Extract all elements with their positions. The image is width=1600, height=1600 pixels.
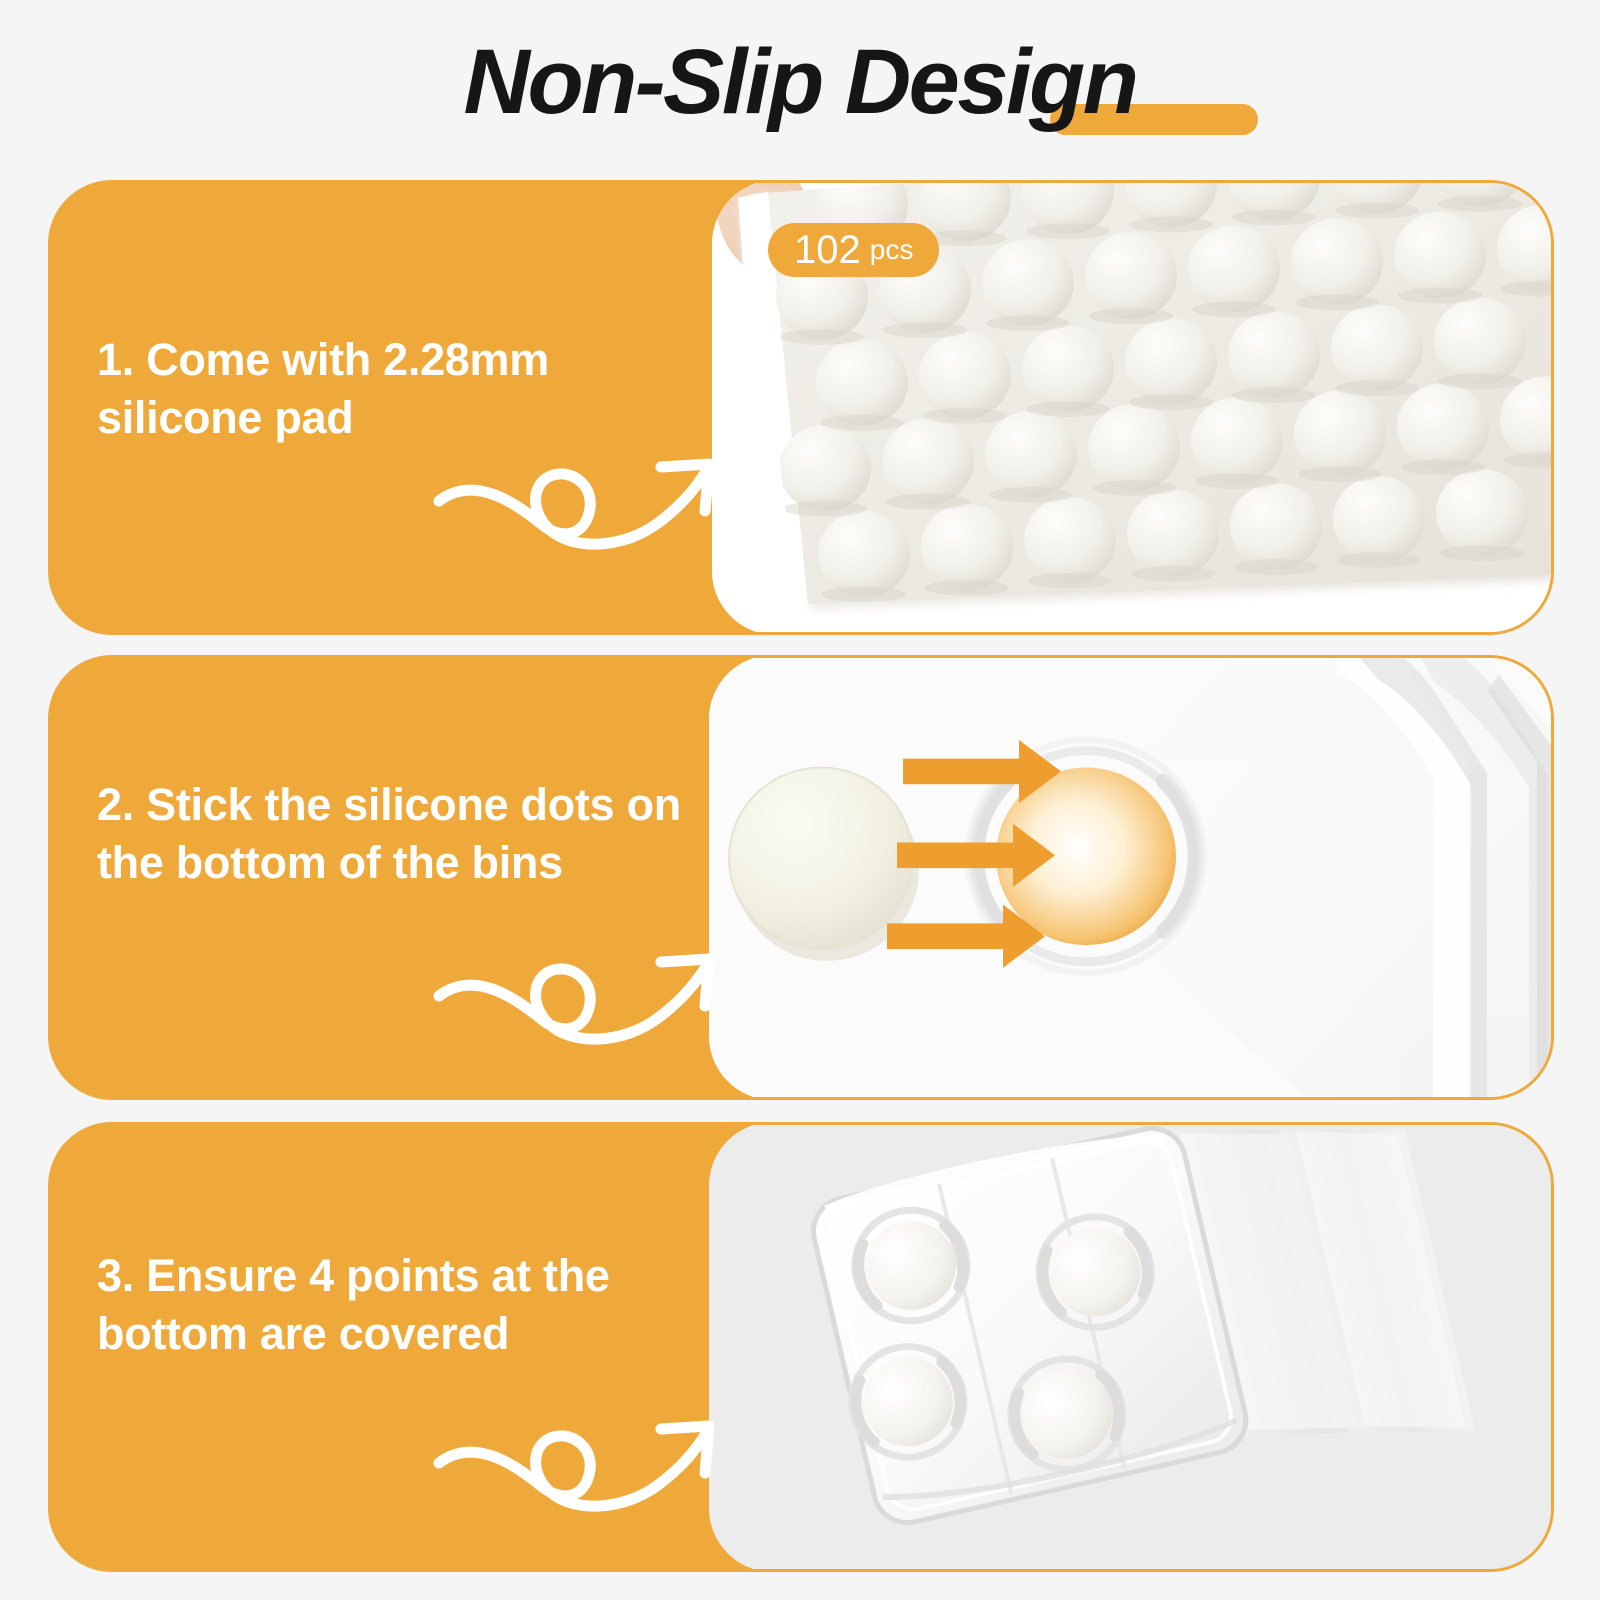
pieces-count-value: 102 [794,230,861,270]
infographic-page: Non-Slip Design [0,0,1600,1600]
step-card-1: 102 pcs 1. Come with 2.28mm silicone pad [48,180,1554,635]
step-card-3: 3. Ensure 4 points at the bottom are cov… [48,1122,1554,1572]
step-2-label: 2. Stick the silicone dots on the bottom… [97,776,717,892]
page-title-area: Non-Slip Design [0,22,1600,142]
step-2-photo [709,655,1554,1100]
step-1-photo: 102 pcs [712,180,1554,635]
step-card-2: 2. Stick the silicone dots on the bottom… [48,655,1554,1100]
page-title: Non-Slip Design [464,26,1137,138]
step-1-text-panel: 1. Come with 2.28mm silicone pad [51,183,771,632]
step-3-text-panel: 3. Ensure 4 points at the bottom are cov… [51,1125,771,1569]
page-title-inner: Non-Slip Design [464,26,1137,138]
step-3-photo [709,1122,1554,1572]
curly-arrow-icon [433,926,723,1061]
four-dots-bin-illustration [709,1122,1554,1572]
pad-application-illustration [709,655,1554,1100]
pieces-count-unit: pcs [870,235,914,265]
step-2-text-panel: 2. Stick the silicone dots on the bottom… [51,658,771,1097]
curly-arrow-icon [433,1393,723,1528]
step-1-label: 1. Come with 2.28mm silicone pad [97,331,717,447]
step-3-label: 3. Ensure 4 points at the bottom are cov… [97,1247,717,1363]
curly-arrow-icon [433,431,723,566]
pieces-count-badge: 102 pcs [768,223,939,277]
